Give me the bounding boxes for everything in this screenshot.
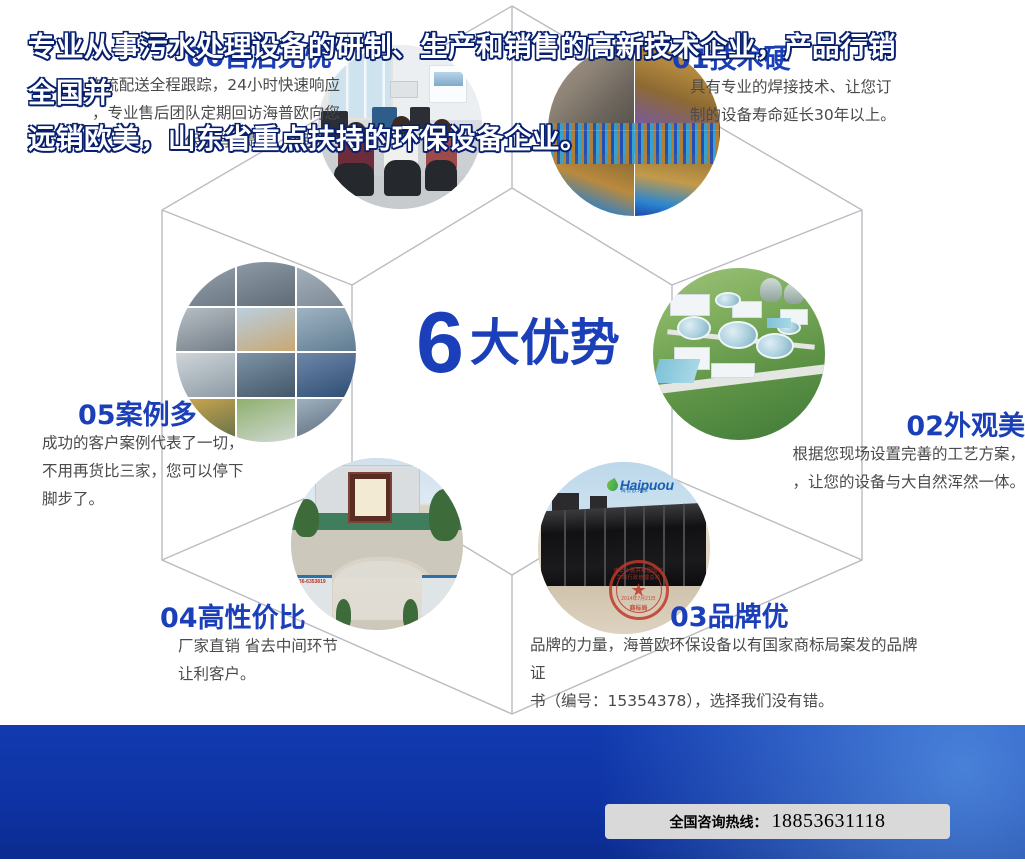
- haipuou-logo: Haipuou 海普欧环保: [607, 474, 686, 496]
- hotline-number: 18853631118: [771, 810, 885, 833]
- seal-top-text: 中华人民共和国国家工商行政管理总局: [612, 567, 666, 581]
- gate-phone-text: 136-6353819: [296, 579, 325, 585]
- feature-02: 02外观美 根据您现场设置完善的工艺方案， ，让您的设备与大自然浑然一体。: [740, 413, 1025, 497]
- hotline-box[interactable]: 全国咨询热线： 18853631118: [605, 804, 950, 839]
- banner-text: 专业从事污水处理设备的研制、生产和销售的高新技术企业，产品行销全国并 远销欧美，…: [28, 24, 898, 163]
- seal-date: 2014年7月21日: [612, 595, 666, 602]
- feature-02-body: 根据您现场设置完善的工艺方案， ，让您的设备与大自然浑然一体。: [740, 441, 1025, 496]
- banner-line-2: 远销欧美，山东省重点扶持的环保设备企业。: [28, 116, 898, 162]
- infographic-stage: 6 大优势: [0, 0, 1025, 862]
- feature-04-body: 厂家直销 省去中间环节 让利客户。: [130, 633, 450, 688]
- center-number: 6: [416, 300, 462, 386]
- feature-04-title: 04高性价比: [130, 605, 450, 633]
- feature-03: 03品牌优 品牌的力量，海普欧环保设备以有国家商标局案发的品牌证 书（编号：15…: [530, 604, 930, 715]
- feature-05-body: 成功的客户案例代表了一切， 不用再货比三家，您可以停下 脚步了。: [28, 430, 328, 513]
- bottom-banner: [0, 722, 1025, 862]
- center-text: 大优势: [470, 318, 620, 368]
- banner-line-1: 专业从事污水处理设备的研制、生产和销售的高新技术企业，产品行销全国并: [28, 24, 898, 116]
- feature-05-title: 05案例多: [28, 402, 328, 430]
- hotline-label: 全国咨询热线：: [669, 812, 767, 832]
- feature-03-title: 03品牌优: [530, 604, 930, 632]
- feature-04: 04高性价比 厂家直销 省去中间环节 让利客户。: [130, 605, 450, 689]
- feature-05: 05案例多 成功的客户案例代表了一切， 不用再货比三家，您可以停下 脚步了。: [28, 402, 328, 513]
- logo-subtext: 海普欧环保: [621, 487, 649, 494]
- center-label: 6 大优势: [388, 288, 648, 398]
- feature-03-body: 品牌的力量，海普欧环保设备以有国家商标局案发的品牌证 书（编号：15354378…: [530, 632, 930, 715]
- feature-02-title: 02外观美: [740, 413, 1025, 441]
- leaf-icon: [605, 478, 620, 493]
